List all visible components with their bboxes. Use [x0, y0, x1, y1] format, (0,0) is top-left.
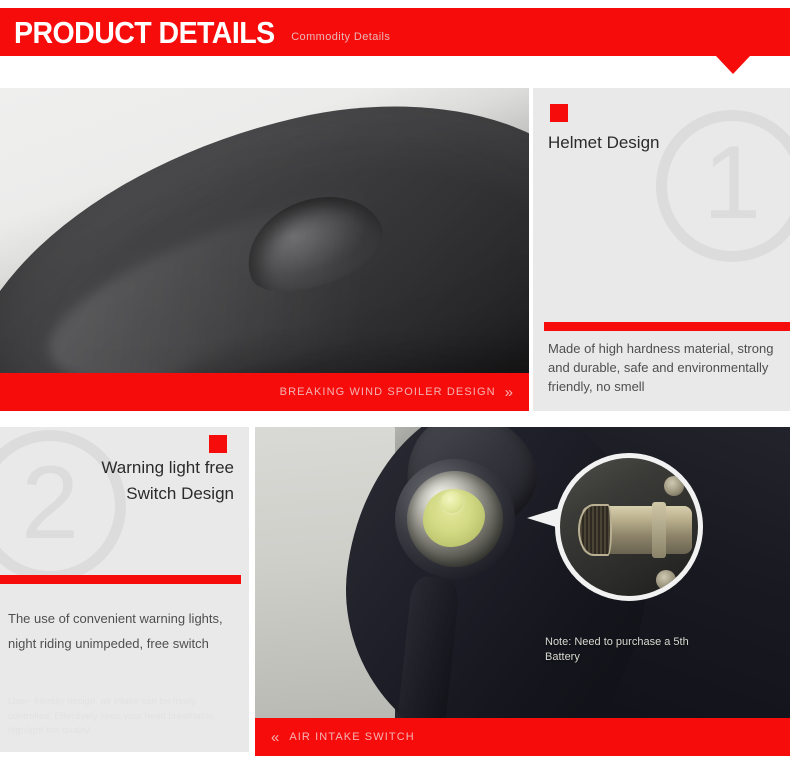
section-1-body-text: Made of high hardness material, strong a… [548, 340, 778, 397]
page-header-banner: PRODUCT DETAILS Commodity Details [0, 8, 790, 56]
section-1-caption-bar: BREAKING WIND SPOILER DESIGN » [0, 373, 529, 411]
section-2-body-text: The use of convenient warning lights, ni… [8, 607, 240, 656]
section-1-info-panel: 1 Helmet Design Made of high hardness ma… [533, 88, 790, 411]
section-2-heading: Warning light free Switch Design [101, 455, 234, 506]
section-1-number: 1 [703, 131, 761, 235]
section-1: BREAKING WIND SPOILER DESIGN » 1 Helmet … [0, 88, 790, 411]
helmet-spoiler-photo [0, 88, 529, 373]
chevron-double-left-icon: « [271, 730, 279, 745]
warning-light-photo: Note: Need to purchase a 5th Battery [255, 427, 790, 718]
section-2-number: 2 [21, 451, 79, 555]
section-1-caption-text: BREAKING WIND SPOILER DESIGN [280, 386, 496, 398]
page-title: PRODUCT DETAILS [14, 17, 275, 48]
section-1-bullet-square [550, 104, 568, 122]
connector-mesh-shape [578, 504, 612, 556]
section-2: 2 Warning light free Switch Design The u… [0, 427, 790, 760]
section-2-bullet-square [209, 435, 227, 453]
battery-note: Note: Need to purchase a 5th Battery [545, 635, 725, 665]
section-2-info-panel: 2 Warning light free Switch Design The u… [0, 427, 249, 752]
section-2-body-line-2: night riding unimpeded, free switch [8, 632, 240, 657]
section-2-heading-line-2: Switch Design [101, 481, 234, 507]
section-1-divider [544, 322, 790, 331]
connector-ring-shape [652, 502, 666, 558]
screw-bottom-icon [656, 570, 676, 590]
section-2-caption-bar: « AIR INTAKE SWITCH [255, 718, 790, 756]
banner-content: PRODUCT DETAILS Commodity Details [0, 8, 790, 56]
page-subtitle: Commodity Details [291, 31, 390, 43]
section-2-fine-print: User- friendly design, air intake can be… [8, 695, 232, 739]
section-2-divider [0, 575, 241, 584]
chevron-double-right-icon: » [505, 385, 513, 400]
screw-top-icon [664, 476, 684, 496]
section-2-body-line-1: The use of convenient warning lights, [8, 607, 240, 632]
section-2-watermark-circle: 2 [0, 430, 126, 582]
section-1-heading: Helmet Design [548, 130, 660, 156]
banner-down-arrow-icon [716, 56, 750, 74]
section-2-caption-text: AIR INTAKE SWITCH [289, 731, 414, 743]
section-2-heading-line-1: Warning light free [101, 455, 234, 481]
air-intake-switch-callout [555, 453, 703, 601]
section-1-watermark-circle: 1 [656, 110, 790, 262]
led-center-dot-shape [441, 491, 463, 513]
